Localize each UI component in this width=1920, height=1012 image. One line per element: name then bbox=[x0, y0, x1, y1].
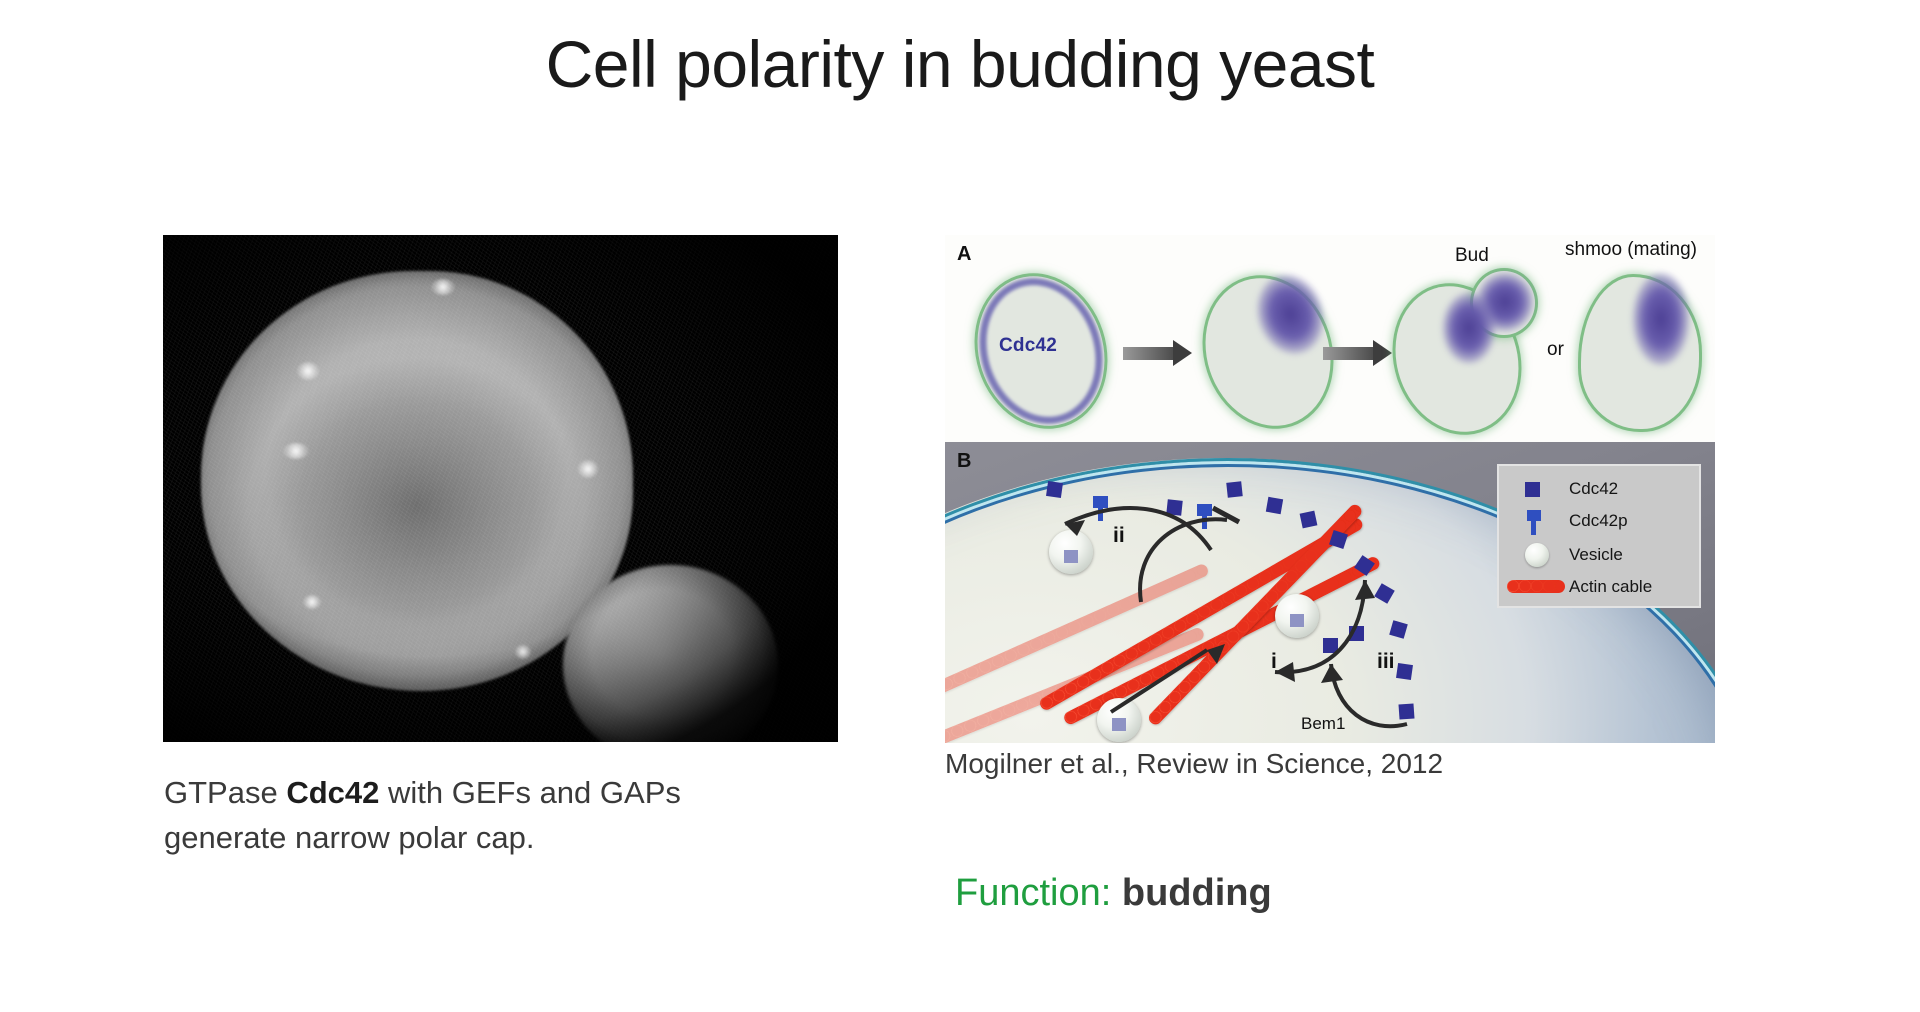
bem1-label: Bem1 bbox=[1301, 714, 1345, 734]
legend-label: Vesicle bbox=[1569, 545, 1623, 565]
function-statement: Function: budding bbox=[955, 872, 1272, 915]
blue-pin-icon bbox=[1525, 510, 1543, 541]
image-vignette bbox=[163, 235, 838, 742]
legend-item: Actin cable bbox=[1499, 574, 1699, 602]
figure-panel-a: A Cdc42 Bud or shmoo (mating) bbox=[945, 235, 1715, 442]
micrograph-caption: GTPase Cdc42 with GEFs and GAPs generate… bbox=[164, 770, 804, 860]
cdc42-bud-neck-cap bbox=[1443, 293, 1495, 363]
step-label-iii: iii bbox=[1377, 650, 1395, 674]
transition-arrow-2 bbox=[1323, 347, 1375, 360]
shmoo-label: shmoo (mating) bbox=[1565, 239, 1697, 261]
caption-line1-prefix: GTPase bbox=[164, 775, 286, 810]
figure-legend: Cdc42 Cdc42p Vesicle Actin cable bbox=[1497, 464, 1701, 608]
figure-citation: Mogilner et al., Review in Science, 2012 bbox=[945, 748, 1443, 780]
vesicle-sphere-icon bbox=[1525, 543, 1549, 567]
legend-label: Actin cable bbox=[1569, 577, 1652, 597]
step-label-ii: ii bbox=[1113, 524, 1125, 548]
red-actin-cable-icon bbox=[1507, 580, 1565, 593]
function-value: budding bbox=[1122, 872, 1272, 914]
caption-line2: generate narrow polar cap. bbox=[164, 820, 535, 855]
cdc42-marker bbox=[1300, 511, 1318, 529]
cdc42-marker bbox=[1266, 497, 1283, 514]
legend-item: Cdc42p bbox=[1499, 508, 1699, 536]
panel-b-letter: B bbox=[957, 450, 971, 473]
legend-label: Cdc42 bbox=[1569, 479, 1618, 499]
fluorescence-micrograph bbox=[163, 235, 838, 742]
legend-item: Vesicle bbox=[1499, 542, 1699, 570]
yeast-cell-shmoo bbox=[1581, 277, 1699, 429]
cdc42-shmoo-cap bbox=[1633, 273, 1689, 365]
actin-transport-arrow bbox=[1103, 632, 1233, 722]
or-label: or bbox=[1547, 339, 1564, 361]
bud-label: Bud bbox=[1455, 245, 1489, 267]
transition-arrow-1 bbox=[1123, 347, 1175, 360]
cdc42-label: Cdc42 bbox=[999, 335, 1057, 357]
science-review-figure: A Cdc42 Bud or shmoo (mating) bbox=[945, 235, 1715, 743]
caption-line1-suffix: with GEFs and GAPs bbox=[379, 775, 681, 810]
legend-label: Cdc42p bbox=[1569, 511, 1628, 531]
function-key: Function: bbox=[955, 872, 1111, 914]
blue-square-icon bbox=[1525, 482, 1540, 497]
panel-a-letter: A bbox=[957, 243, 971, 266]
step-label-i: i bbox=[1271, 650, 1277, 674]
legend-item: Cdc42 bbox=[1499, 476, 1699, 504]
page-title: Cell polarity in budding yeast bbox=[0, 26, 1920, 102]
caption-cdc42-bold: Cdc42 bbox=[286, 775, 379, 810]
figure-panel-b: B bbox=[945, 442, 1715, 743]
